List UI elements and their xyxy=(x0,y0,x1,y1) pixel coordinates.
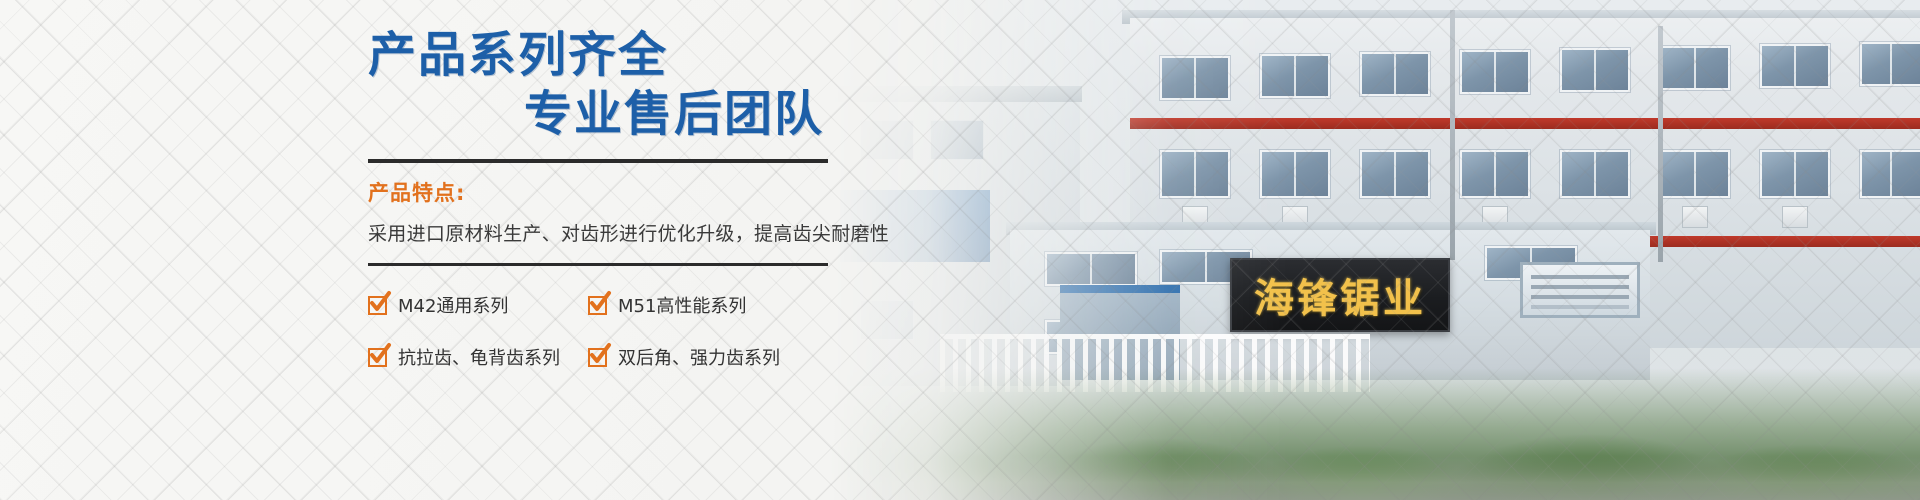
list-item[interactable]: M42通用系列 xyxy=(368,292,588,318)
building-window xyxy=(1660,150,1730,198)
left-building-roof xyxy=(830,86,1082,102)
building-window xyxy=(1460,50,1530,94)
checkbox-checked-icon xyxy=(368,296,387,315)
building-window xyxy=(1260,150,1330,198)
facade-red-band xyxy=(1130,118,1920,129)
list-item[interactable]: 双后角、强力齿系列 xyxy=(588,344,808,370)
list-item-label: 抗拉齿、龟背齿系列 xyxy=(398,344,560,370)
list-item-label: M42通用系列 xyxy=(398,292,508,318)
checkbox-checked-icon xyxy=(368,348,387,367)
headline-line-1: 产品系列齐全 xyxy=(368,26,828,85)
building-window xyxy=(1660,46,1730,90)
building-window xyxy=(1360,52,1430,96)
air-conditioner-unit xyxy=(1682,206,1708,228)
headline-group: 产品系列齐全 专业售后团队 xyxy=(368,0,828,143)
promo-banner: 海锋锯业 产品系列齐全 专业售后团队 产品特点: 采用进口原材料生产、对齿形进行… xyxy=(0,0,1920,500)
factory-photo: 海锋锯业 xyxy=(830,0,1920,500)
light-pole xyxy=(1658,26,1663,262)
building-window xyxy=(1760,44,1830,88)
list-item-label: M51高性能系列 xyxy=(618,292,746,318)
building-window xyxy=(1560,48,1630,92)
banner-content: 产品系列齐全 专业售后团队 产品特点: 采用进口原材料生产、对齿形进行优化升级，… xyxy=(368,0,828,500)
features-description: 采用进口原材料生产、对齿形进行优化升级，提高齿尖耐磨性 xyxy=(368,219,828,246)
notice-board xyxy=(1520,262,1640,318)
building-window xyxy=(1160,150,1230,198)
building-window xyxy=(1760,150,1830,198)
ground-strip xyxy=(830,456,1920,500)
building-window xyxy=(1260,54,1330,98)
light-pole xyxy=(1450,10,1455,260)
building-window xyxy=(860,300,914,340)
building-window xyxy=(860,120,914,160)
company-sign: 海锋锯业 xyxy=(1230,258,1450,332)
company-sign-text: 海锋锯业 xyxy=(1254,266,1426,324)
building-window xyxy=(1460,150,1530,198)
checkbox-checked-icon xyxy=(588,348,607,367)
building-window xyxy=(1160,56,1230,100)
divider-bottom xyxy=(368,263,828,266)
list-item[interactable]: 抗拉齿、龟背齿系列 xyxy=(368,344,588,370)
air-conditioner-unit xyxy=(1782,206,1808,228)
product-series-list: M42通用系列 M51高性能系列 抗拉齿、龟背齿系列 xyxy=(368,292,828,370)
building-window xyxy=(1360,150,1430,198)
divider-top xyxy=(368,159,828,163)
checkbox-checked-icon xyxy=(588,296,607,315)
building-window xyxy=(1045,252,1137,286)
list-item-label: 双后角、强力齿系列 xyxy=(618,344,780,370)
building-window xyxy=(930,120,984,160)
features-title: 产品特点: xyxy=(368,177,828,207)
building-window xyxy=(1560,150,1630,198)
headline-line-2: 专业售后团队 xyxy=(368,85,828,144)
list-item[interactable]: M51高性能系列 xyxy=(588,292,808,318)
building-window xyxy=(1860,42,1920,86)
building-window xyxy=(1860,150,1920,198)
